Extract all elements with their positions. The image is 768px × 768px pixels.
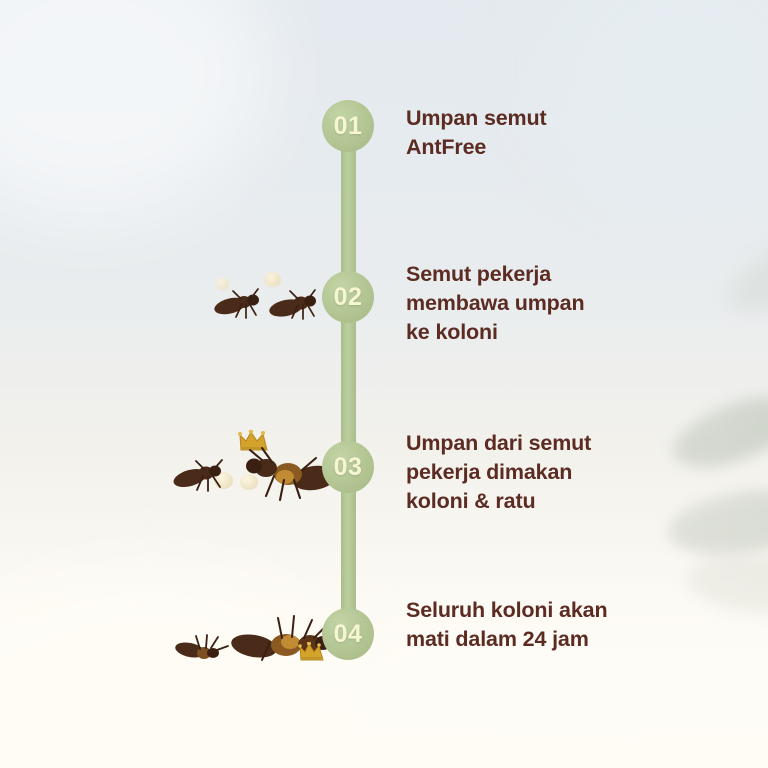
step-description-03: Umpan dari semut pekerja dimakan koloni …	[406, 429, 706, 515]
timeline-node-03[interactable]: 03	[322, 441, 374, 493]
step-description-04: Seluruh koloni akan mati dalam 24 jam	[406, 596, 706, 654]
timeline-node-01[interactable]: 01	[322, 100, 374, 152]
steps-timeline: 01 02 03 04 Umpan semut AntFree Semut pe…	[0, 0, 768, 768]
step-description-01: Umpan semut AntFree	[406, 104, 706, 162]
timeline-node-number: 01	[334, 112, 363, 141]
timeline-node-number: 04	[334, 620, 363, 649]
timeline-node-number: 03	[334, 453, 363, 482]
infographic-poster: 01 02 03 04 Umpan semut AntFree Semut pe…	[0, 0, 768, 768]
timeline-node-number: 02	[334, 283, 363, 312]
step-description-02: Semut pekerja membawa umpan ke koloni	[406, 260, 706, 346]
timeline-node-04[interactable]: 04	[322, 608, 374, 660]
timeline-node-02[interactable]: 02	[322, 271, 374, 323]
